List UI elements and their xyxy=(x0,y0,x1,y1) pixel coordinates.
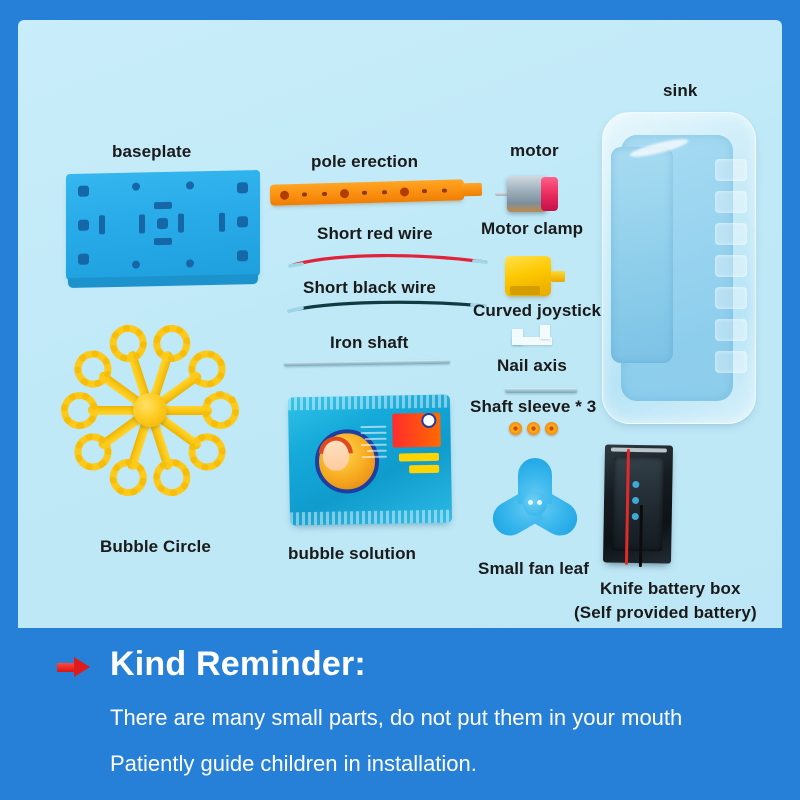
reminder-line-2: Patiently guide children in installation… xyxy=(110,751,477,777)
knife-battery-box-label: Knife battery box xyxy=(600,580,741,597)
motor-clamp-label: Motor clamp xyxy=(481,220,583,237)
nail-axis-part xyxy=(505,388,577,393)
baseplate-part xyxy=(66,170,260,280)
reminder-line-1: There are many small parts, do not put t… xyxy=(110,705,682,731)
small-fan-leaf-label: Small fan leaf xyxy=(478,560,589,577)
pole-erection-label: pole erection xyxy=(311,153,418,170)
reminder-title: Kind Reminder: xyxy=(110,645,366,684)
bubble-circle-part xyxy=(40,300,260,520)
shaft-sleeve-part xyxy=(545,422,558,435)
product-parts-diagram: baseplate Bubble Circle pole erectio xyxy=(0,0,800,800)
short-black-wire-part xyxy=(286,297,488,319)
shaft-sleeve-part xyxy=(509,422,522,435)
curved-joystick-label: Curved joystick xyxy=(473,302,601,319)
short-red-wire-part xyxy=(288,250,488,272)
curved-joystick-part xyxy=(512,325,558,347)
knife-battery-box-part xyxy=(603,444,673,563)
right-arrow-icon xyxy=(57,657,91,677)
sink-label: sink xyxy=(663,82,697,99)
knife-battery-box-note: (Self provided battery) xyxy=(574,604,757,621)
motor-clamp-part xyxy=(505,256,557,298)
bubble-solution-label: bubble solution xyxy=(288,545,416,562)
motor-label: motor xyxy=(510,142,559,159)
motor-part xyxy=(497,176,559,212)
bubble-circle-label: Bubble Circle xyxy=(100,538,211,555)
iron-shaft-label: Iron shaft xyxy=(330,334,408,351)
shaft-sleeve-label: Shaft sleeve * 3 xyxy=(470,398,596,415)
nail-axis-label: Nail axis xyxy=(497,357,567,374)
small-fan-leaf-part xyxy=(487,456,583,552)
sink-part xyxy=(602,112,756,424)
baseplate-label: baseplate xyxy=(112,143,191,160)
bubble-solution-part xyxy=(288,395,452,526)
shaft-sleeve-part xyxy=(527,422,540,435)
short-red-wire-label: Short red wire xyxy=(317,225,433,242)
short-black-wire-label: Short black wire xyxy=(303,279,436,296)
